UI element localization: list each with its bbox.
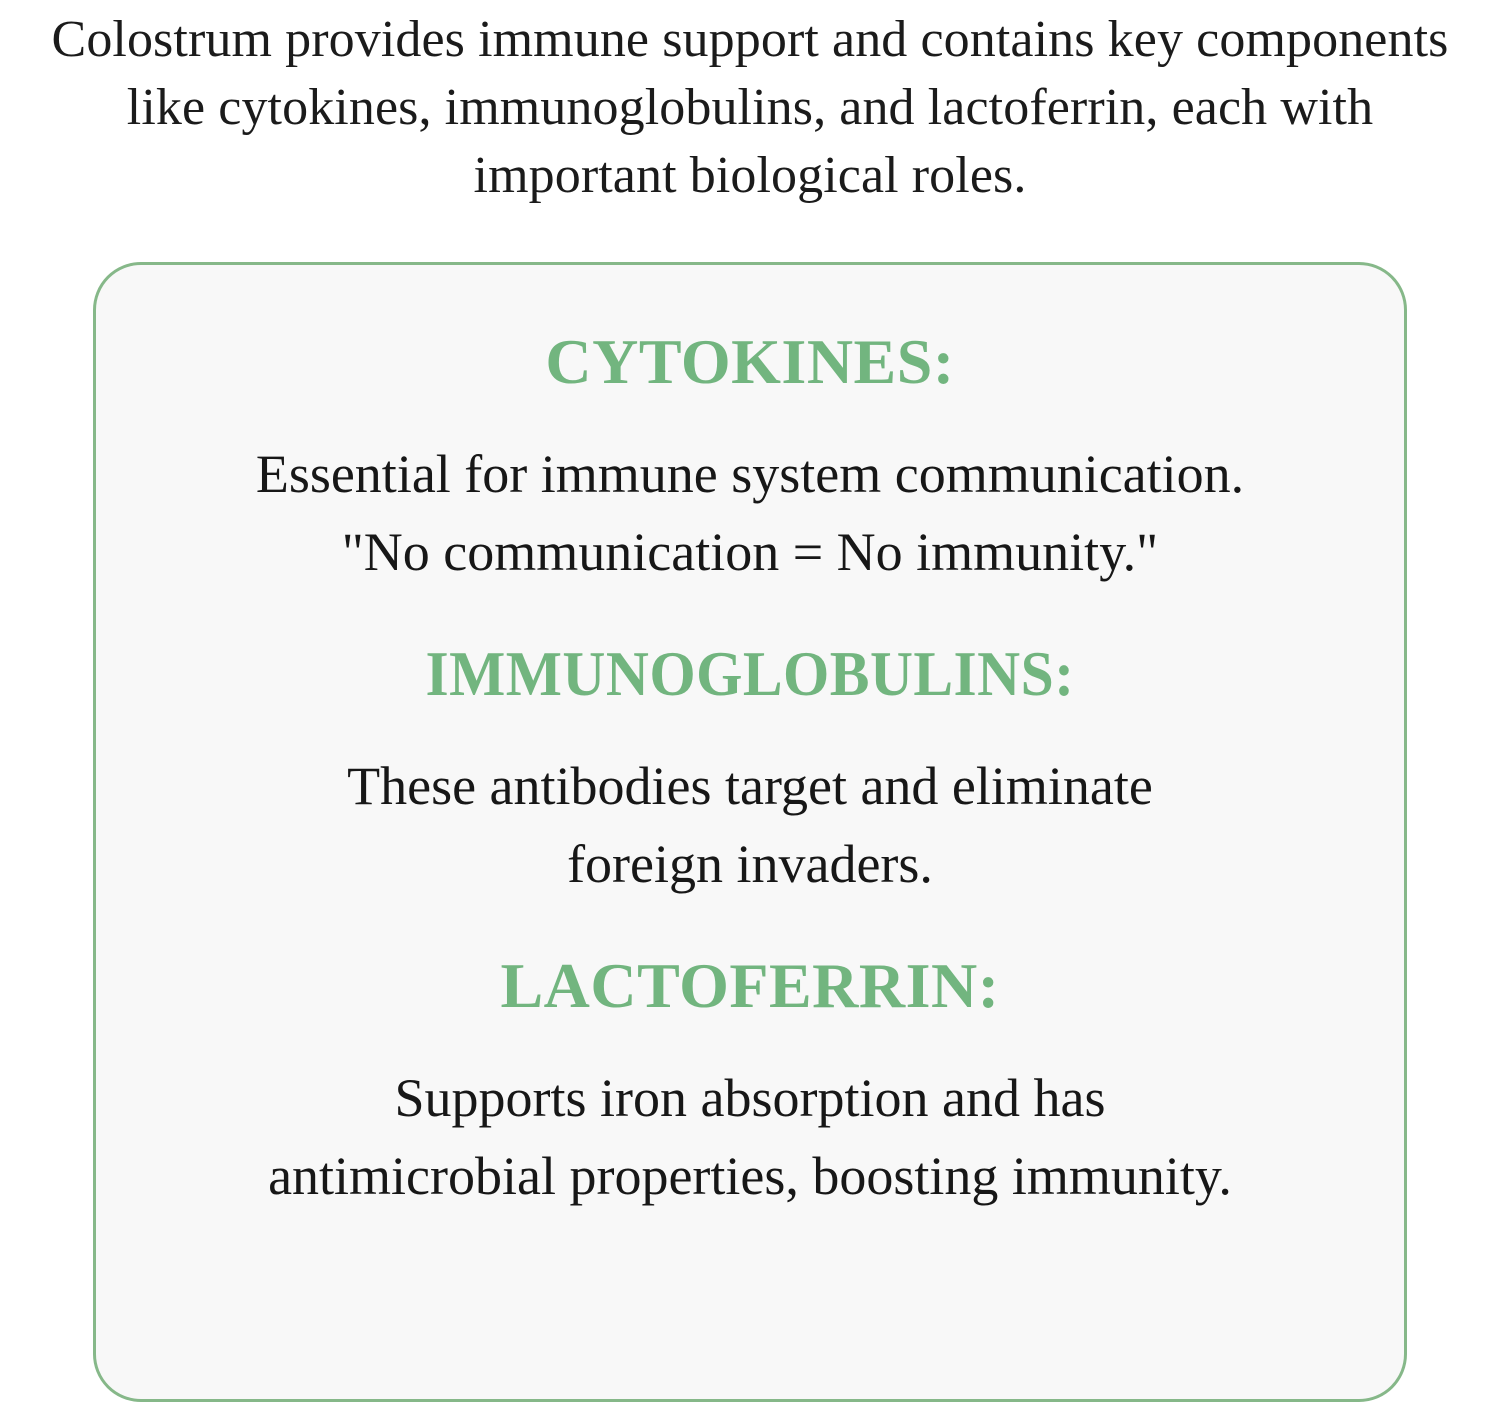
- section-lactoferrin: LACTOFERRIN: Supports iron absorption an…: [126, 947, 1374, 1215]
- intro-line-1: Colostrum provides immune support and co…: [0, 6, 1500, 74]
- intro-line-2: like cytokines, immunoglobulins, and lac…: [0, 74, 1500, 142]
- body-line: These antibodies target and eliminate: [126, 747, 1374, 825]
- page-root: Colostrum provides immune support and co…: [0, 0, 1500, 1410]
- section-body-cytokines: Essential for immune system communicatio…: [126, 435, 1374, 591]
- intro-paragraph: Colostrum provides immune support and co…: [0, 0, 1500, 210]
- spacer: [126, 401, 1374, 435]
- intro-line-3: important biological roles.: [0, 142, 1500, 210]
- section-heading-immunoglobulins: IMMUNOGLOBULINS:: [170, 635, 1331, 713]
- section-immunoglobulins: IMMUNOGLOBULINS: These antibodies target…: [126, 635, 1374, 903]
- section-heading-cytokines: CYTOKINES:: [126, 323, 1374, 401]
- body-line: "No communication = No immunity.": [126, 513, 1374, 591]
- section-body-immunoglobulins: These antibodies target and eliminate fo…: [126, 747, 1374, 903]
- spacer: [126, 1025, 1374, 1059]
- spacer: [126, 713, 1374, 747]
- components-card: CYTOKINES: Essential for immune system c…: [93, 262, 1407, 1402]
- section-body-lactoferrin: Supports iron absorption and has antimic…: [126, 1059, 1374, 1215]
- body-line: antimicrobial properties, boosting immun…: [126, 1137, 1374, 1215]
- body-line: Essential for immune system communicatio…: [126, 435, 1374, 513]
- section-heading-lactoferrin: LACTOFERRIN:: [126, 947, 1374, 1025]
- body-line: Supports iron absorption and has: [126, 1059, 1374, 1137]
- card-content: CYTOKINES: Essential for immune system c…: [96, 265, 1404, 1399]
- section-cytokines: CYTOKINES: Essential for immune system c…: [126, 323, 1374, 591]
- body-line: foreign invaders.: [126, 825, 1374, 903]
